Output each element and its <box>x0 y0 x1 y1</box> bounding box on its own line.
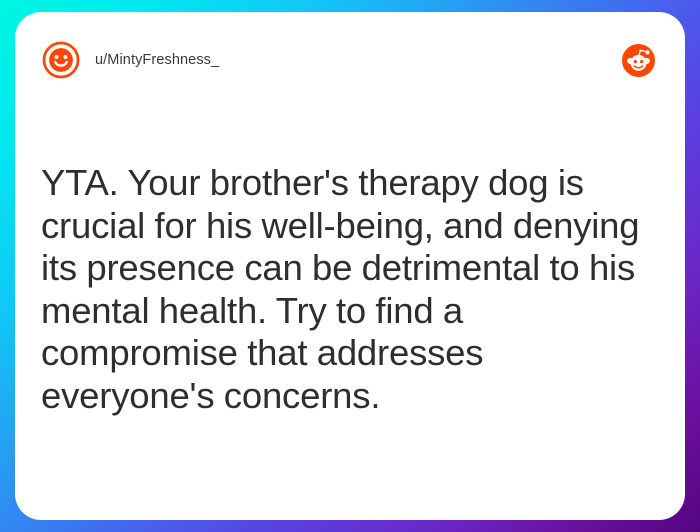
smiley-face-avatar-icon <box>42 41 80 79</box>
avatar[interactable] <box>42 41 80 79</box>
comment-text: YTA. Your brother's therapy dog is cruci… <box>41 162 656 417</box>
card-header: u/MintyFreshness_ <box>15 12 685 108</box>
reddit-comment-card: u/MintyFreshness_ YTA. Your brother's th… <box>15 12 685 520</box>
gradient-backdrop: u/MintyFreshness_ YTA. Your brother's th… <box>0 0 700 532</box>
username-label: u/MintyFreshness_ <box>95 52 219 68</box>
reddit-snoo-logo-icon <box>622 44 655 77</box>
reddit-logo[interactable] <box>622 44 655 77</box>
